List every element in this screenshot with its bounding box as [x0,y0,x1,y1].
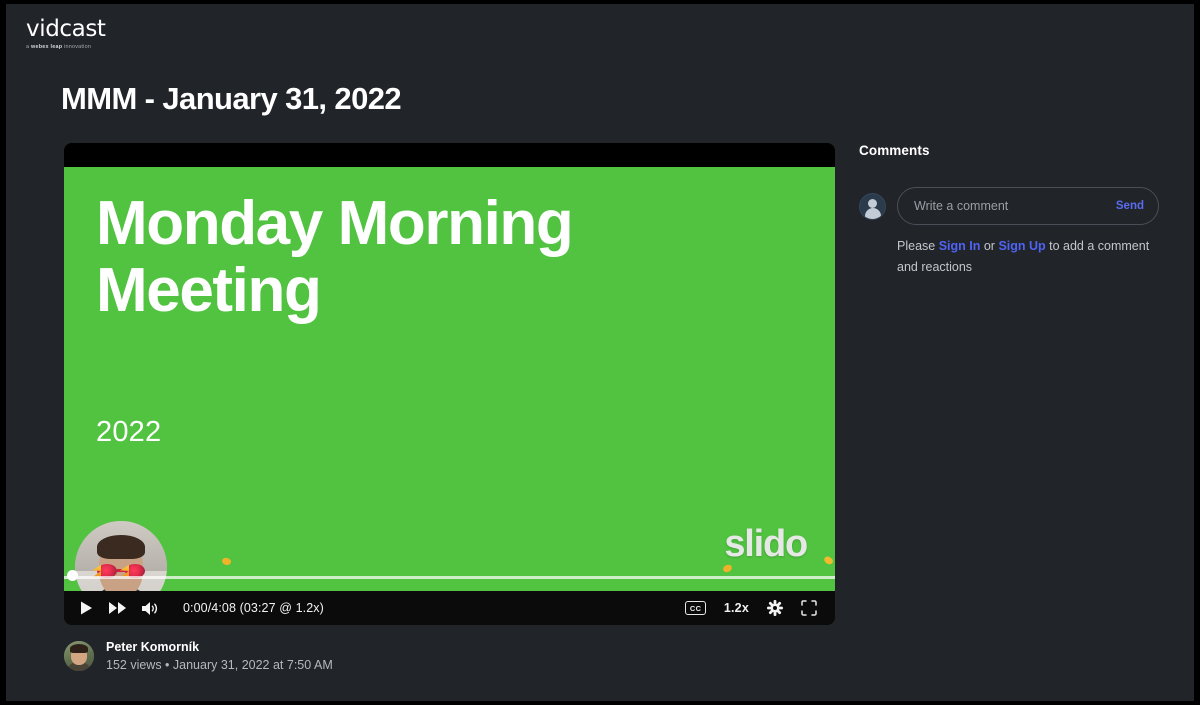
send-comment-button[interactable]: Send [1116,200,1144,212]
slide-title: Monday Morning Meeting [96,191,736,325]
signin-prompt-prefix: Please [897,239,939,253]
slido-watermark: slido [724,525,807,563]
video-controls-right: CC 1.2x [685,600,835,616]
playback-speed-button[interactable]: 1.2x [724,601,749,615]
webcam-person-hair [97,535,145,559]
vidcast-logo[interactable]: vidcast a webex leap innovation [26,18,126,50]
gear-icon[interactable] [767,600,783,616]
current-user-avatar [859,193,886,220]
slide-subtitle: 2022 [96,416,161,449]
uploader-avatar[interactable] [64,641,94,671]
video-frame-slide: Monday Morning Meeting 2022 slido [64,167,835,591]
video-control-bar: 0:00/4:08 (03:27 @ 1.2x) CC 1.2x [64,591,835,625]
comment-input-wrapper[interactable]: Send [897,187,1159,225]
time-readout: 0:00/4:08 (03:27 @ 1.2x) [183,601,324,615]
logo-wordmark: vidcast [26,18,126,41]
fast-forward-icon[interactable] [108,601,127,615]
avatar-hair [70,644,88,653]
comments-panel: Comments Send Please Sign In or Sign Up … [859,143,1159,278]
logo-tagline-brand: webex leap [31,44,62,50]
video-player[interactable]: Monday Morning Meeting 2022 slido [64,143,835,625]
confetti-particle [722,564,733,573]
uploader-name[interactable]: Peter Komorník [106,638,333,656]
video-controls-left: 0:00/4:08 (03:27 @ 1.2x) [64,600,324,616]
signin-prompt: Please Sign In or Sign Up to add a comme… [897,236,1155,278]
fullscreen-icon[interactable] [801,600,817,616]
comment-input[interactable] [914,199,1116,213]
video-letterbox-top [64,143,835,167]
sign-in-link[interactable]: Sign In [939,239,981,253]
app-root: vidcast a webex leap innovation MMM - Ja… [6,4,1194,701]
video-progress-bar[interactable] [64,576,835,579]
video-progress-handle[interactable] [67,570,78,581]
avatar-head [868,199,877,208]
avatar-body [865,208,881,219]
volume-icon[interactable] [141,601,160,616]
uploader-meta: 152 views • January 31, 2022 at 7:50 AM [106,656,333,674]
page-title: MMM - January 31, 2022 [61,80,401,119]
signin-prompt-middle: or [980,239,998,253]
app-header: vidcast a webex leap innovation [6,4,1194,74]
confetti-particle [823,555,834,566]
comment-composer: Send [859,187,1159,225]
closed-captions-button[interactable]: CC [685,601,705,615]
play-icon[interactable] [79,600,94,616]
comments-heading: Comments [859,143,1159,158]
uploader-info: Peter Komorník 152 views • January 31, 2… [64,638,333,674]
logo-tagline: a webex leap innovation [26,45,126,50]
logo-tagline-suffix: innovation [62,44,91,50]
uploader-text-block: Peter Komorník 152 views • January 31, 2… [106,638,333,674]
confetti-particle [221,556,232,566]
sign-up-link[interactable]: Sign Up [998,239,1045,253]
